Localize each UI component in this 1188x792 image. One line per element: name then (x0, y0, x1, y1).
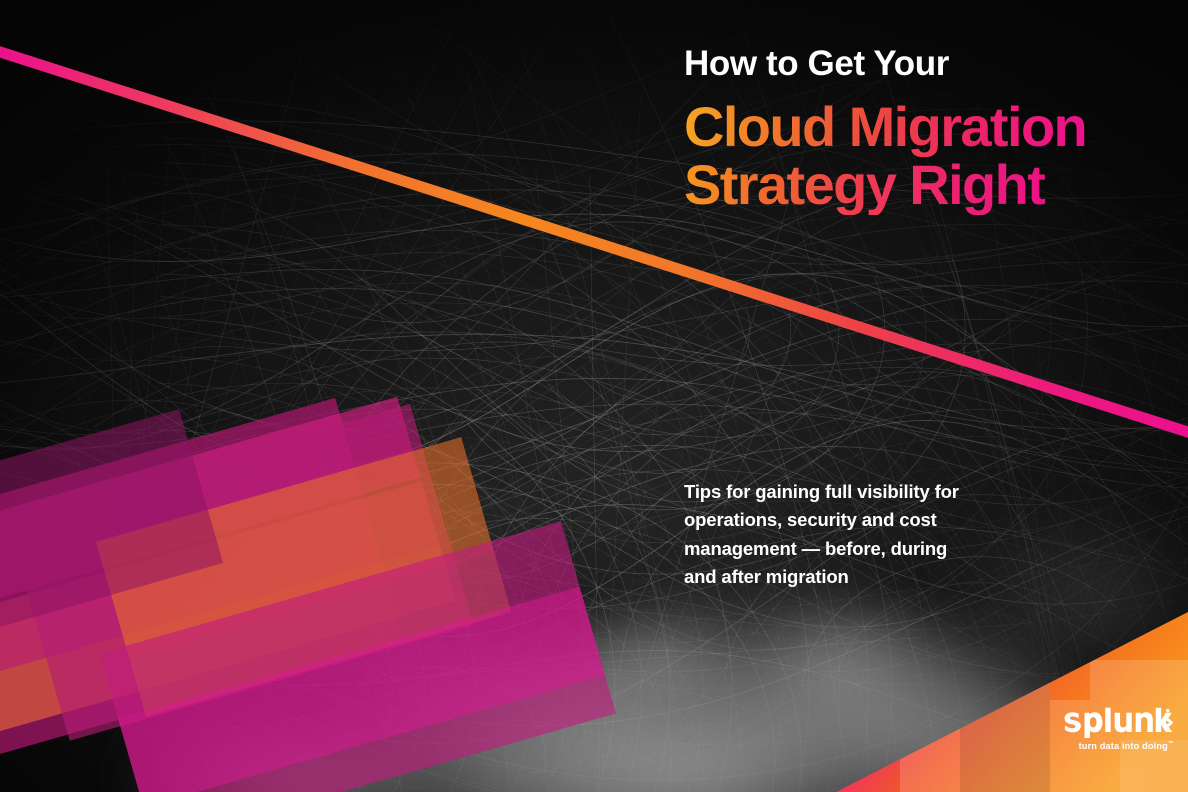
eyebrow-text: How to Get Your (684, 44, 1154, 83)
ribbon-cluster (0, 381, 616, 792)
cover-canvas: How to Get Your Cloud Migration Strategy… (0, 0, 1188, 792)
splunk-wordmark-icon (1063, 706, 1173, 740)
splunk-tagline: turn data into doing™ (1063, 741, 1175, 751)
brand-name: splunk (1175, 751, 1176, 752)
splunk-logo: turn data into doing™ splunk (1063, 706, 1175, 751)
page-title-line-2: Strategy Right (684, 155, 1154, 215)
bottom-right-gradient-banner (836, 612, 1188, 792)
headline-block: How to Get Your Cloud Migration Strategy… (684, 44, 1154, 215)
page-title-line-1: Cloud Migration (684, 97, 1154, 157)
subtitle-text: Tips for gaining full visibility for ope… (684, 478, 984, 592)
